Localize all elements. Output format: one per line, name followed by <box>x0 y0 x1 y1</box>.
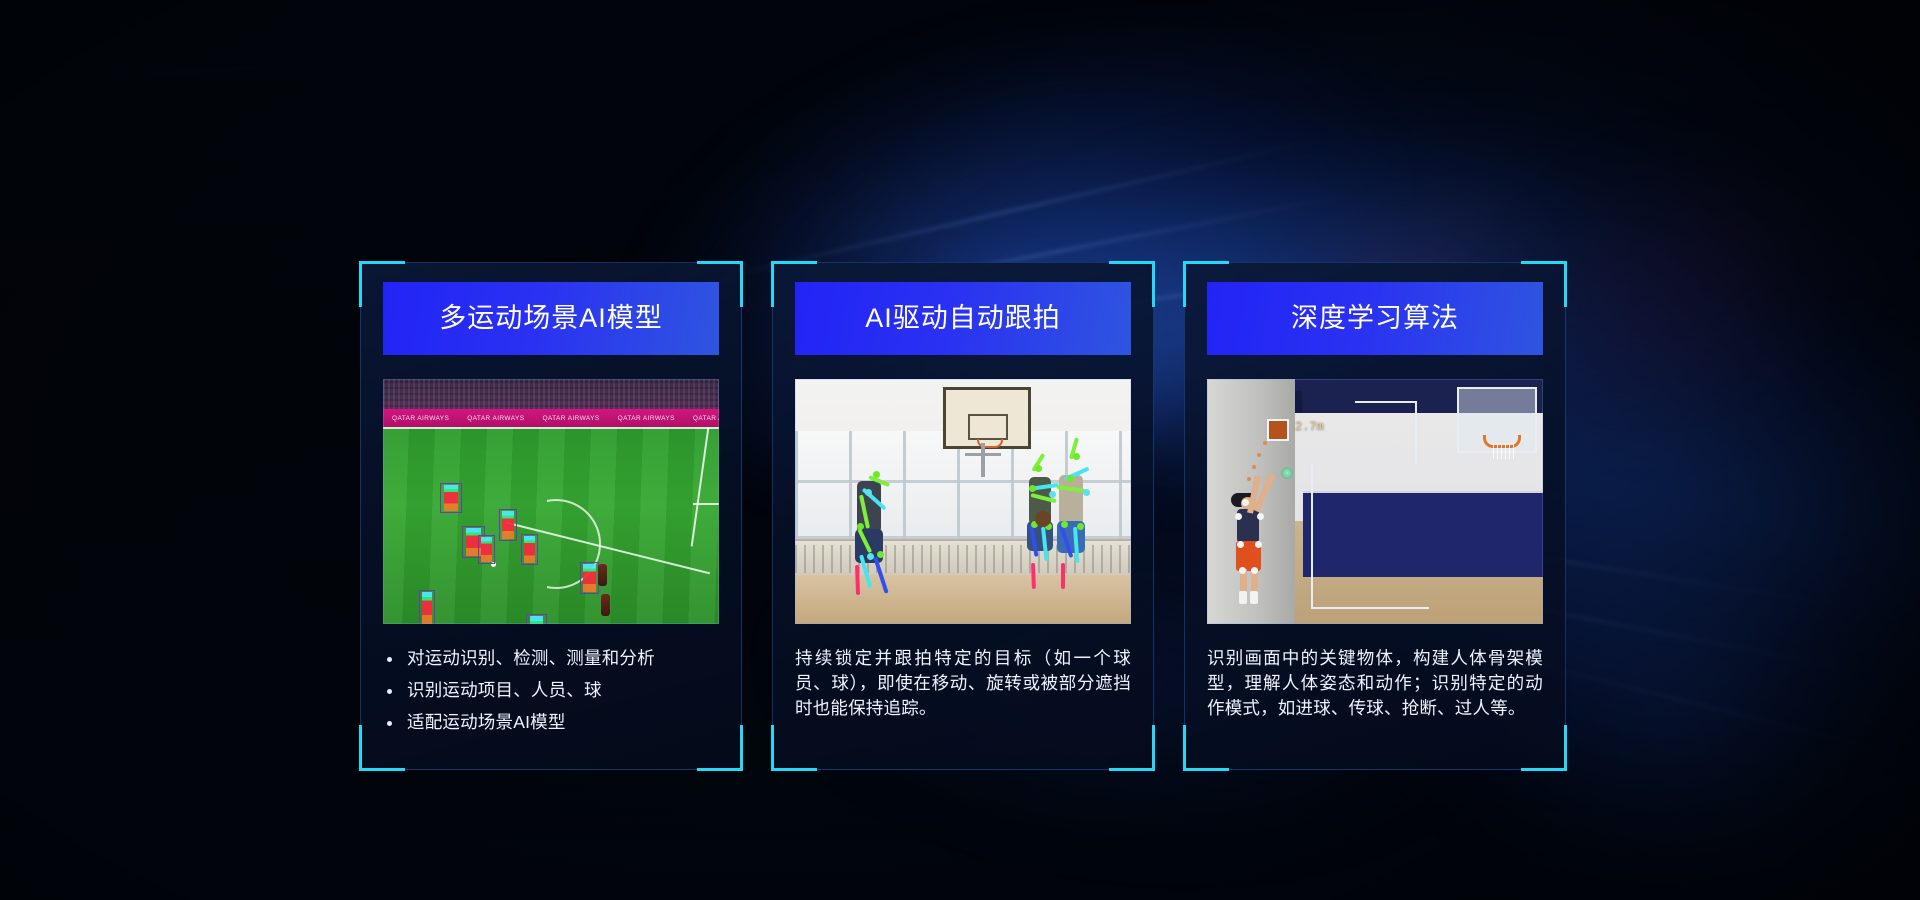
player-shooting <box>1229 487 1269 605</box>
ad-text: QATAR AIRWAYS <box>684 415 719 422</box>
gym-pose-tracking-thumbnail <box>795 379 1131 624</box>
ad-text: QATAR AIRWAYS <box>609 415 684 422</box>
undetected-player <box>601 594 610 616</box>
pose-skeleton <box>1047 451 1103 617</box>
ball-trail-dot <box>1263 441 1267 445</box>
pose-skeleton <box>847 467 903 617</box>
detection-box <box>580 562 599 594</box>
card-1-title: 多运动场景AI模型 <box>439 305 663 332</box>
detection-box <box>526 614 547 624</box>
basketball-net <box>1493 443 1517 459</box>
marker-dot <box>1281 467 1293 479</box>
hoop-brace <box>965 453 1001 456</box>
card-1-body: 对运动识别、检测、测量和分析 识别运动项目、人员、球 适配运动场景AI模型 <box>383 646 719 742</box>
feature-card-2[interactable]: AI驱动自动跟拍 <box>772 262 1154 770</box>
feature-card-1[interactable]: 多运动场景AI模型 QATAR AIRWAYS QATAR AIRWAYS QA… <box>360 262 742 770</box>
detection-box <box>521 534 538 565</box>
hoop-pole <box>981 443 985 477</box>
list-item: 识别运动项目、人员、球 <box>383 678 719 703</box>
ball-detection-box <box>1267 419 1289 441</box>
ad-text: QATAR AIRWAYS <box>458 415 533 422</box>
wall-padding <box>1303 491 1543 577</box>
card-1-header: 多运动场景AI模型 <box>383 282 719 355</box>
detection-box <box>419 590 435 624</box>
slide-stage: 多运动场景AI模型 QATAR AIRWAYS QATAR AIRWAYS QA… <box>0 0 1920 900</box>
light-line-1 <box>708 140 1313 281</box>
detection-box <box>440 483 462 513</box>
feature-card-3[interactable]: 深度学习算法 <box>1184 262 1566 770</box>
distance-label: 2.7m <box>1295 419 1324 433</box>
advertising-board: QATAR AIRWAYS QATAR AIRWAYS QATAR AIRWAY… <box>383 409 719 427</box>
detection-box <box>499 509 517 541</box>
tracking-line-court <box>1311 463 1313 609</box>
feature-card-row: 多运动场景AI模型 QATAR AIRWAYS QATAR AIRWAYS QA… <box>360 262 1566 770</box>
card-2-paragraph: 持续锁定并跟拍特定的目标（如一个球员、球），即使在移动、旋转或被部分遮挡时也能保… <box>795 646 1131 721</box>
card-1-bullet-list: 对运动识别、检测、测量和分析 识别运动项目、人员、球 适配运动场景AI模型 <box>383 646 719 735</box>
ball-trail-dot <box>1247 477 1251 481</box>
stadium-crowd <box>383 379 719 413</box>
ball-trail-dot <box>1252 465 1256 469</box>
list-item: 适配运动场景AI模型 <box>383 710 719 735</box>
ad-text: QATAR AIRWAYS <box>383 415 458 422</box>
shot-distance-tracking-thumbnail: 2.7m <box>1207 379 1543 624</box>
card-3-header: 深度学习算法 <box>1207 282 1543 355</box>
tracking-line-horizontal <box>1355 401 1417 403</box>
card-3-paragraph: 识别画面中的关键物体，构建人体骨架模型，理解人体姿态和动作；识别特定的动作模式，… <box>1207 646 1543 721</box>
list-item: 对运动识别、检测、测量和分析 <box>383 646 719 671</box>
card-2-body: 持续锁定并跟拍特定的目标（如一个球员、球），即使在移动、旋转或被部分遮挡时也能保… <box>795 646 1131 721</box>
card-3-title: 深度学习算法 <box>1291 305 1459 332</box>
undetected-player <box>598 564 607 586</box>
card-2-title: AI驱动自动跟拍 <box>865 305 1061 332</box>
ball-trail-dot <box>1257 453 1261 457</box>
detection-box <box>478 535 495 564</box>
card-3-body: 识别画面中的关键物体，构建人体骨架模型，理解人体姿态和动作；识别特定的动作模式，… <box>1207 646 1543 721</box>
soccer-pitch-detection-thumbnail: QATAR AIRWAYS QATAR AIRWAYS QATAR AIRWAY… <box>383 379 719 624</box>
light-line-7 <box>40 62 360 81</box>
card-2-header: AI驱动自动跟拍 <box>795 282 1131 355</box>
tracking-line-floor <box>1311 607 1429 609</box>
basketball <box>1035 511 1051 527</box>
tracking-line-vertical <box>1415 401 1417 463</box>
ad-text: QATAR AIRWAYS <box>533 415 608 422</box>
